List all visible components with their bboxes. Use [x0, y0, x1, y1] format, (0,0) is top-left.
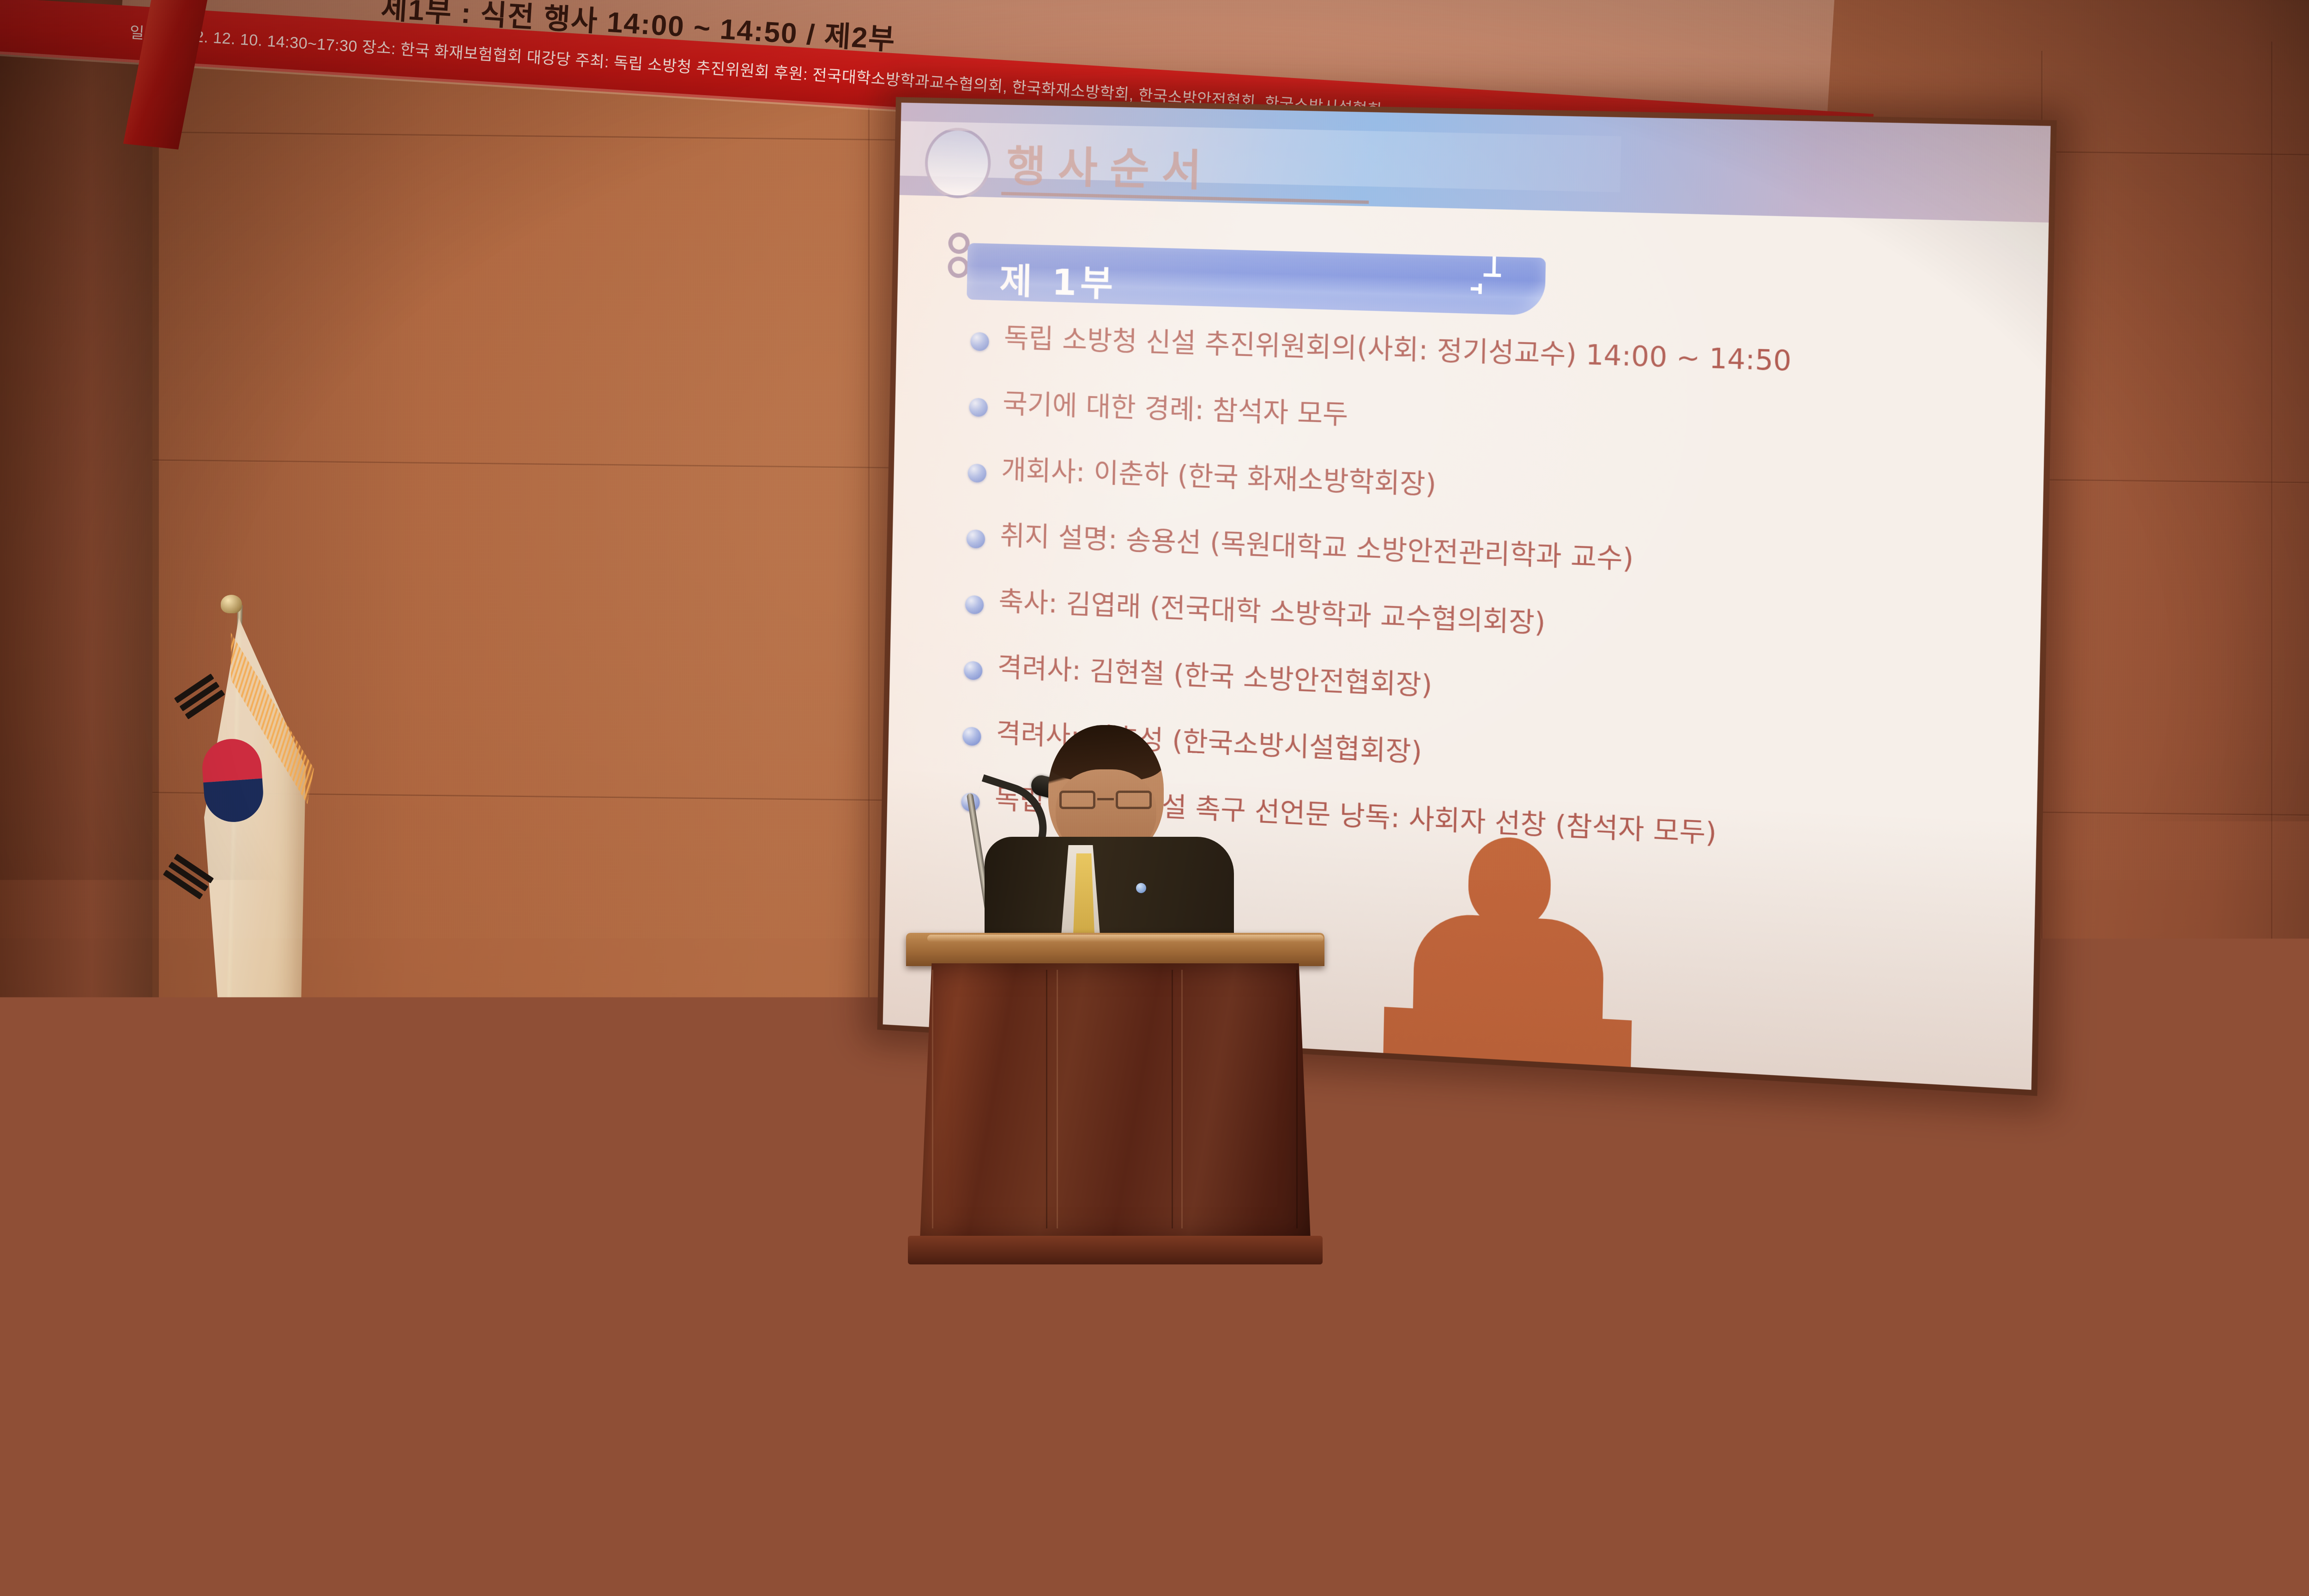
slide-section-label: 제 1부	[999, 252, 1117, 307]
slide-bullet-item: 독립 소방청 신설 추진위원회의(사회: 정기성교수) 14:00 ~ 14:5…	[952, 321, 2048, 392]
bullet-dot-icon	[970, 332, 989, 351]
audience-head	[351, 1421, 450, 1544]
slide-bullet-item: 취지 설명: 송용선 (목원대학교 소방안전관리학과 교수)	[948, 519, 2044, 598]
slide-bullet-text: 축사: 김엽래 (전국대학 소방학과 교수협의회장)	[998, 585, 1546, 639]
taeguk-symbol-icon	[200, 737, 265, 824]
seating-wainscot-panel	[0, 1339, 2309, 1445]
bullet-dot-icon	[964, 661, 983, 680]
flag-trigram-icon	[161, 853, 214, 902]
bullet-dot-icon	[965, 595, 984, 615]
slide-section-banner: 제 1부	[967, 243, 1546, 315]
podium-top-surface	[906, 933, 1324, 966]
bullet-dot-icon	[967, 464, 986, 483]
podium-floor-shadow	[877, 1256, 1358, 1284]
slide-title: 행사순서	[1006, 132, 1215, 198]
sparkle-decoration-icon	[1463, 252, 1523, 310]
slide-bullet-text: 개회사: 이춘하 (한국 화재소방학회장)	[1001, 453, 1437, 501]
audience-head	[245, 1413, 351, 1540]
flag-trigram-icon	[174, 673, 227, 722]
bullet-dot-icon	[967, 529, 985, 549]
podium-and-speaker-group	[896, 720, 1335, 1275]
audience-seating-area	[0, 1339, 2309, 1596]
podium-front-panel	[920, 963, 1311, 1240]
audience-head	[1759, 1432, 1866, 1556]
theater-seat	[2069, 1577, 2272, 1596]
slide-bullet-text: 국기에 대한 경례: 참석자 모두	[1002, 388, 1348, 431]
audience-head	[827, 1413, 933, 1540]
speaker-lapel-pin-icon	[1136, 883, 1146, 893]
podium-lectern	[896, 933, 1335, 1275]
conference-hall-photo: 제1부 : 식전 행사 14:00 ~ 14:50 / 제2부 일시: 2012…	[0, 0, 2309, 1596]
seating-rail-1	[0, 1409, 2309, 1414]
flag-finial-ornament-icon	[221, 595, 242, 613]
slide-bullet-text: 독립 소방청 신설 추진위원회의(사회: 정기성교수) 14:00 ~ 14:5…	[1003, 322, 1792, 377]
speaker-eyeglasses-icon	[1058, 791, 1154, 809]
audience-head	[1441, 1352, 1535, 1463]
bullet-dot-icon	[969, 398, 988, 417]
audience-head	[1039, 1422, 1150, 1552]
slide-bullet-text: 취지 설명: 송용선 (목원대학교 소방안전관리학과 교수)	[1000, 520, 1634, 575]
slide-bullet-text: 격려사: 김현철 (한국 소방안전협회장)	[997, 651, 1433, 701]
slide-bullet-item: 축사: 김엽래 (전국대학 소방학과 교수협의회장)	[946, 584, 2043, 666]
slide-bullet-item: 국기에 대한 경례: 참석자 모두	[950, 387, 2047, 460]
korean-flag-assembly	[139, 605, 397, 1251]
audience-head	[531, 1370, 628, 1485]
audience-head	[2050, 1346, 2166, 1473]
slide-bullet-item: 개회사: 이춘하 (한국 화재소방학회장)	[949, 453, 2045, 529]
